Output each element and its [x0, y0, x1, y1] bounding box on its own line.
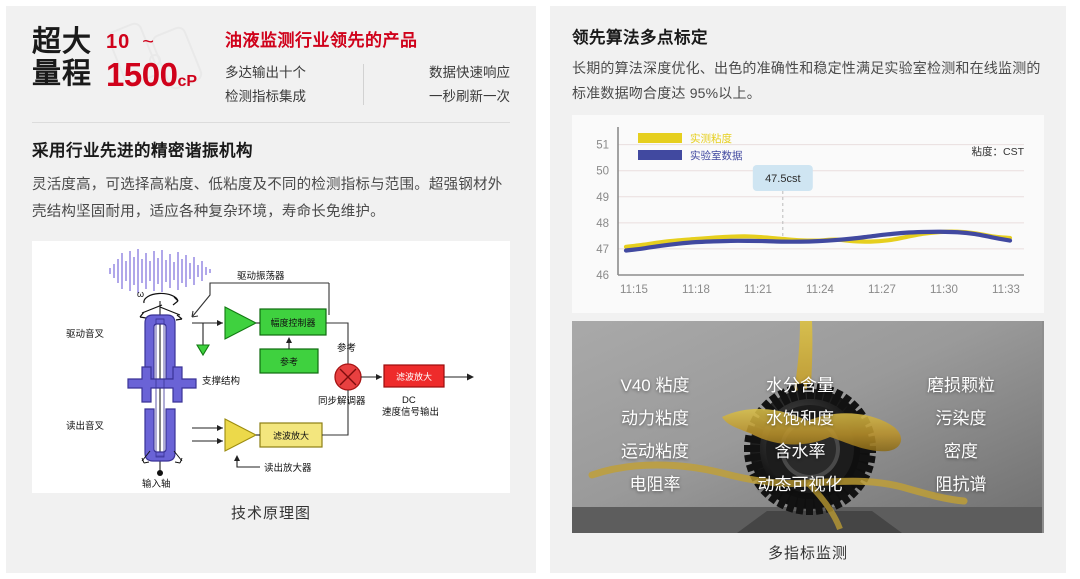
overlay-right-2: 密度: [896, 435, 1026, 468]
range-unit: cP: [177, 73, 197, 90]
overlay-column-mid: 水分含量 水饱和度 含水率 动态可视化: [720, 369, 880, 502]
hero-feature-columns: 多达输出十个 检测指标集成 数据快速响应 一秒刷新一次: [225, 61, 510, 108]
svg-text:11:18: 11:18: [682, 284, 710, 296]
hero-feature-2-line1: 数据快速响应: [390, 61, 510, 85]
range-max: 1500: [106, 56, 177, 93]
svg-text:50: 50: [596, 166, 609, 178]
drive-oscillator-label: 驱动振荡器: [237, 270, 285, 282]
hero-title-line2: 量程: [32, 58, 92, 90]
figure-caption: 技术原理图: [32, 493, 510, 523]
hero-range: 10~ 1500cP: [106, 24, 207, 91]
input-shaft-label: 输入轴: [142, 478, 171, 490]
readout-amp-label: 读出放大器: [264, 462, 312, 474]
svg-text:11:33: 11:33: [992, 284, 1020, 296]
filter-amp-red-label: 滤波放大: [396, 371, 432, 382]
svg-text:48: 48: [596, 218, 609, 230]
svg-text:11:24: 11:24: [806, 284, 835, 296]
range-max-row: 1500cP: [106, 58, 207, 91]
overlay-right-3: 阻抗谱: [896, 468, 1026, 501]
range-min: 10: [106, 31, 130, 53]
synchronous-demodulator-icon: [335, 364, 361, 390]
reference-label: 参考: [280, 356, 298, 367]
overlay-left-0: V40 粘度: [590, 369, 720, 402]
dc-label: DC: [402, 395, 416, 406]
section-body: 灵活度高，可选择高粘度、低粘度及不同的检测指标与范围。超强钢材外壳结构坚固耐用，…: [32, 172, 510, 225]
overlay-left-3: 电阻率: [590, 468, 720, 501]
right-panel: 领先算法多点标定 长期的算法深度优化、出色的准确性和稳定性满足实验室检测和在线监…: [550, 6, 1066, 573]
range-min-row: 10~: [106, 24, 207, 52]
overlay-right-1: 污染度: [896, 402, 1026, 435]
svg-text:46: 46: [596, 270, 609, 282]
page-root: 超大 量程 10~ 1500cP 油液: [0, 0, 1080, 579]
svg-text:51: 51: [596, 139, 609, 151]
viscosity-chart: 464748495051 11:1511:1811:2111:2411:2711…: [572, 115, 1044, 313]
right-title: 领先算法多点标定: [572, 24, 1044, 48]
dc-sub-label: 速度信号输出: [382, 406, 439, 418]
overlay-mid-2: 含水率: [720, 435, 880, 468]
overlay-right-0: 磨损颗粒: [896, 369, 1026, 402]
drive-fork-label: 驱动音叉: [66, 328, 105, 340]
svg-text:11:21: 11:21: [744, 284, 772, 296]
readout-fork-label: 读出音叉: [66, 420, 105, 432]
demodulator-label: 同步解调器: [318, 395, 366, 407]
hero-title-line1: 超大: [32, 26, 92, 58]
overlay-left-2: 运动粘度: [590, 435, 720, 468]
multi-indicator-photo: V40 粘度 动力粘度 运动粘度 电阻率 水分含量 水饱和度 含水率 动态可视化…: [572, 321, 1044, 533]
amplitude-controller-box: 幅度控制器: [260, 309, 326, 335]
hero-feature-1-line2: 检测指标集成: [225, 85, 345, 109]
technical-diagram-figure: 幅度控制器 参考: [32, 241, 510, 493]
overlay-mid-0: 水分含量: [720, 369, 880, 402]
svg-text:11:15: 11:15: [620, 284, 648, 296]
hero-title: 超大 量程: [32, 26, 92, 91]
svg-text:47: 47: [596, 244, 609, 256]
overlay-column-left: V40 粘度 动力粘度 运动粘度 电阻率: [590, 369, 720, 502]
hero-right: 油液监测行业领先的产品 多达输出十个 检测指标集成 数据快速响应 一秒刷新一次: [225, 24, 510, 108]
svg-text:47.5cst: 47.5cst: [765, 173, 800, 185]
range-tilde: ~: [142, 31, 155, 53]
filter-amp-yellow-label: 滤波放大: [273, 430, 309, 441]
hero-block: 超大 量程 10~ 1500cP 油液: [32, 24, 510, 108]
svg-text:实测粘度: 实测粘度: [690, 132, 732, 145]
chart-unit-label: 粘度：CST: [972, 145, 1025, 158]
left-panel: 超大 量程 10~ 1500cP 油液: [6, 6, 536, 573]
viscosity-line-chart-icon: 464748495051 11:1511:1811:2111:2411:2711…: [572, 115, 1042, 313]
amp-ctrl-label: 幅度控制器: [270, 317, 315, 328]
header-divider: [32, 122, 510, 123]
svg-text:实验室数据: 实验室数据: [690, 149, 743, 162]
section-title: 采用行业先进的精密谐振机构: [32, 137, 510, 161]
hero-feature-col-2: 数据快速响应 一秒刷新一次: [390, 61, 510, 108]
support-structure-label: 支撑结构: [202, 375, 240, 387]
overlay-left-1: 动力粘度: [590, 402, 720, 435]
overlay-column-right: 磨损颗粒 污染度 密度 阻抗谱: [896, 369, 1026, 502]
reference-box: 参考: [260, 349, 318, 373]
overlay-mid-3: 动态可视化: [720, 468, 880, 501]
hero-feature-col-1: 多达输出十个 检测指标集成: [225, 61, 345, 108]
svg-text:11:27: 11:27: [868, 284, 896, 296]
tuning-fork-diagram-icon: 幅度控制器 参考: [32, 241, 510, 491]
filter-amplifier-red-box: 滤波放大: [384, 365, 444, 387]
right-body: 长期的算法深度优化、出色的准确性和稳定性满足实验室检测和在线监测的标准数据吻合度…: [572, 56, 1044, 106]
svg-text:11:30: 11:30: [930, 284, 958, 296]
hero-lead: 油液监测行业领先的产品: [225, 26, 510, 51]
photo-caption: 多指标监测: [572, 533, 1044, 563]
reference2-label: 参考: [337, 342, 356, 354]
omega-label: ω: [137, 289, 144, 299]
hero-feature-2-line2: 一秒刷新一次: [390, 85, 510, 109]
filter-amplifier-yellow-box: 滤波放大: [260, 423, 322, 447]
svg-text:49: 49: [596, 192, 609, 204]
hero-feature-1-line1: 多达输出十个: [225, 61, 345, 85]
hero-column-divider: [363, 64, 364, 105]
overlay-mid-1: 水饱和度: [720, 402, 880, 435]
